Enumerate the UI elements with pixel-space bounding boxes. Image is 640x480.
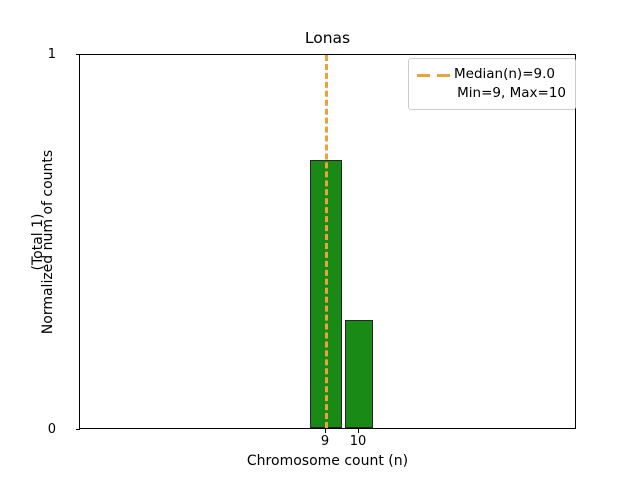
x-axis-label: Chromosome count (n) (79, 453, 576, 469)
legend-entry-minmax: Min=9, Max=10 (416, 84, 567, 103)
xtick-label-9: 9 (321, 435, 329, 449)
legend-entry-median: Median(n)=9.0 (416, 65, 567, 84)
median-line (325, 55, 328, 428)
dashed-line-icon (416, 68, 454, 82)
legend-label-minmax: Min=9, Max=10 (416, 86, 567, 101)
ytick-label-0: 0 (48, 423, 56, 436)
y-axis-label-total: (Total 1) (30, 213, 46, 270)
chart-legend: Median(n)=9.0 Min=9, Max=10 (408, 58, 576, 110)
xtick-mark-10 (358, 429, 359, 433)
page-title: Lonas (79, 29, 576, 47)
legend-label-median: Median(n)=9.0 (454, 67, 567, 82)
ytick-label-1: 1 (48, 48, 56, 61)
ytick-mark-0 (76, 429, 80, 430)
bar-10 (345, 320, 373, 428)
xtick-mark-9 (325, 429, 326, 433)
plot-area (79, 54, 576, 429)
xtick-label-10: 10 (350, 435, 367, 449)
matplotlib-figure: Lonas 0 1 9 10 Chromosome count (n) Norm… (0, 0, 640, 480)
